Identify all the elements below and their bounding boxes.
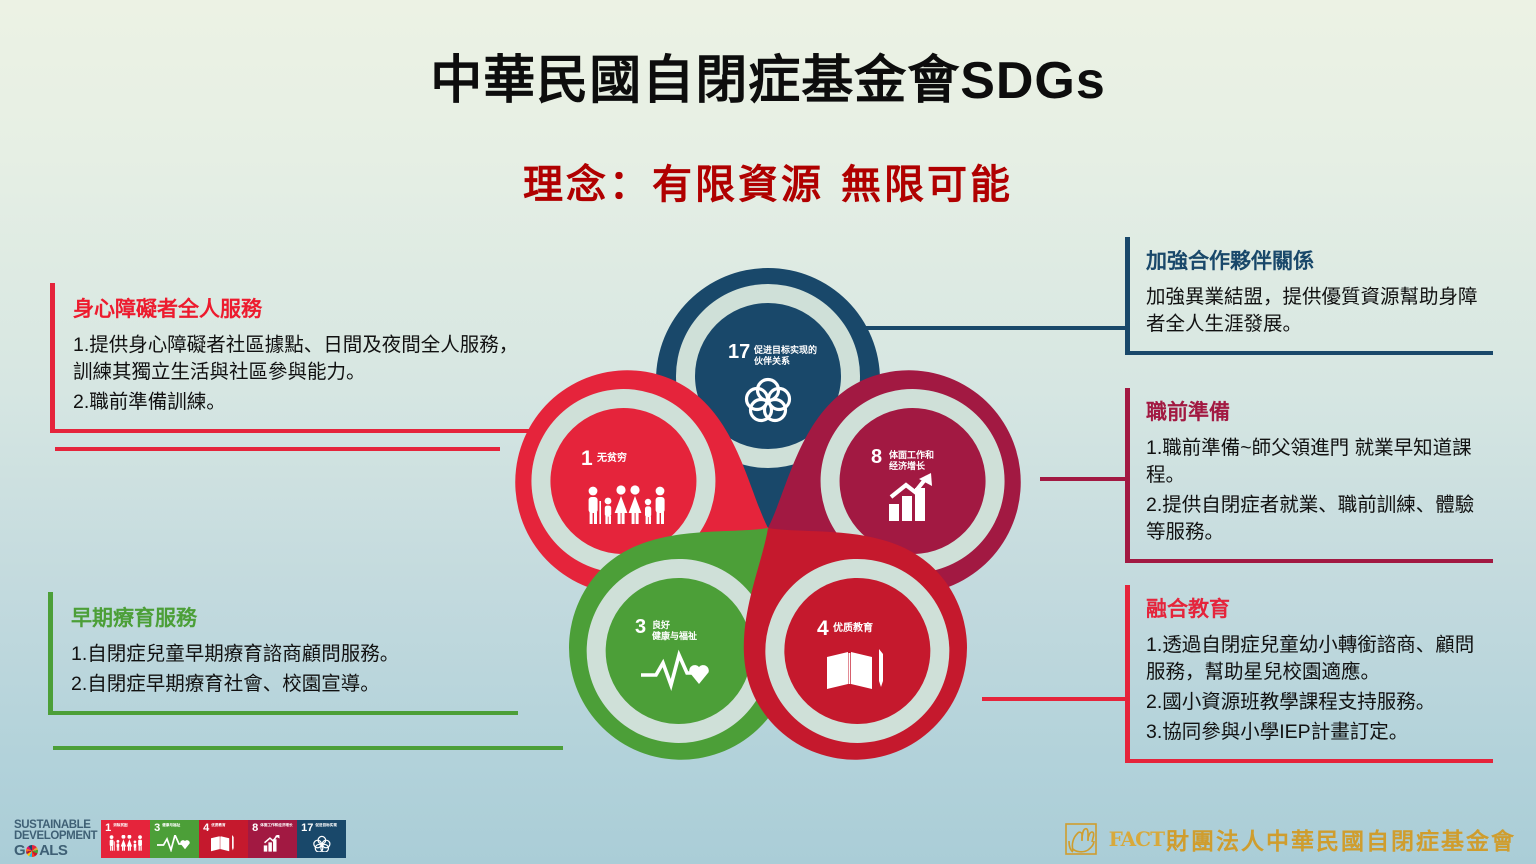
sdg-tile-3-text: 健康与福祉 xyxy=(162,823,196,827)
heartbeat-icon xyxy=(150,835,199,857)
sdg-tile-8[interactable]: 8 体面工作和经济增长 xyxy=(248,820,297,858)
sdg-tile-3[interactable]: 3 健康与福祉 xyxy=(150,820,199,858)
family-group-icon xyxy=(101,835,150,857)
sdg-1-number: 1 xyxy=(581,447,593,470)
panel-early-line-2: 2.自閉症早期療育社會、校園宣導。 xyxy=(71,671,510,698)
sdg-17-label-line1: 促进目标实现的 xyxy=(753,344,817,355)
partnership-circles-icon xyxy=(297,835,346,857)
fact-hand-mark-icon xyxy=(1063,821,1107,857)
open-book-pencil-icon xyxy=(199,835,248,857)
sdg-3-label-line1: 良好 xyxy=(652,619,670,630)
panel-vocational-line-1: 1.職前準備~師父領進門 就業早知道課程。 xyxy=(1146,435,1483,489)
org-name: 財團法人中華民國自閉症基金會 xyxy=(1166,822,1516,856)
sdg-tile-4-number: 4 xyxy=(203,823,209,833)
panel-partner-line-1: 加強異業結盟，提供優質資源幫助身障者全人生涯發展。 xyxy=(1146,284,1483,338)
sdg-3-label-line2: 健康与福祉 xyxy=(652,630,697,641)
sdg-tile-4-text: 优质教育 xyxy=(211,823,245,827)
organization-logo: FACT 財團法人中華民國自閉症基金會 xyxy=(1063,818,1516,860)
sdg-color-wheel-icon xyxy=(26,845,38,857)
sdg-tile-3-number: 3 xyxy=(154,823,160,833)
sdg-tile-1-number: 1 xyxy=(105,823,111,833)
sdg-tile-1[interactable]: 1 消除贫困 xyxy=(101,820,150,858)
panel-partner-title: 加強合作夥伴關係 xyxy=(1146,249,1483,274)
sdg-1-label-line1: 无贫穷 xyxy=(596,451,627,464)
sdg-4-number: 4 xyxy=(817,617,829,640)
panel-disability-line-1: 1.提供身心障礙者社區據點、日間及夜間全人服務，訓練其獨立生活與社區參與能力。 xyxy=(73,332,532,386)
panel-inclusive-line-2: 2.國小資源班教學課程支持服務。 xyxy=(1146,689,1483,716)
sdg-wordmark-g: G xyxy=(14,843,25,858)
sdg-wordmark: SUSTAINABLE DEVELOPMENT G ALS xyxy=(14,820,101,859)
panel-disability-title: 身心障礙者全人服務 xyxy=(73,297,532,322)
sdg-flower-diagram: 17 促进目标实现的 伙伴关系 1 无贫穷 xyxy=(448,228,1088,796)
panel-inclusive-education: 融合教育 1.透過自閉症兒童幼小轉銜諮商、顧問服務，幫助星兒校園適應。 2.國小… xyxy=(1125,585,1493,763)
sdg-tile-8-number: 8 xyxy=(252,823,258,833)
sdg-tile-17[interactable]: 17 促进目标实现 xyxy=(297,820,346,858)
panel-inclusive-line-1: 1.透過自閉症兒童幼小轉銜諮商、顧問服務，幫助星兒校園適應。 xyxy=(1146,632,1483,686)
sdg-tile-row: 1 消除贫困 3 健康与福祉 4 优质教育 8 体面工作和经济增长 xyxy=(101,820,346,858)
sdg-tile-1-text: 消除贫困 xyxy=(113,823,147,827)
sdg-wordmark-als: ALS xyxy=(39,843,67,858)
panel-inclusive-line-3: 3.協同參與小學IEP計畫訂定。 xyxy=(1146,719,1483,746)
org-abbreviation: FACT xyxy=(1109,827,1164,851)
sdg-logo-strip: SUSTAINABLE DEVELOPMENT G ALS 1 消除贫困 3 健… xyxy=(14,820,346,858)
panel-vocational-prep: 職前準備 1.職前準備~師父領進門 就業早知道課程。 2.提供自閉症者就業、職前… xyxy=(1125,388,1493,563)
sdg-17-number: 17 xyxy=(728,341,750,363)
sdg-8-label-line2: 经济增长 xyxy=(889,460,926,471)
sdg-tile-4[interactable]: 4 优质教育 xyxy=(199,820,248,858)
panel-partnership: 加強合作夥伴關係 加強異業結盟，提供優質資源幫助身障者全人生涯發展。 xyxy=(1125,237,1493,355)
panel-early-title: 早期療育服務 xyxy=(71,606,510,631)
page-title: 中華民國自閉症基金會SDGs xyxy=(0,38,1536,113)
sdg-8-number: 8 xyxy=(871,446,882,468)
sdg-3-number: 3 xyxy=(635,616,646,638)
sdg-4-label-line1: 优质教育 xyxy=(833,621,873,634)
panel-vocational-line-2: 2.提供自閉症者就業、職前訓練、體驗等服務。 xyxy=(1146,492,1483,546)
panel-early-intervention: 早期療育服務 1.自閉症兒童早期療育諮商顧問服務。 2.自閉症早期療育社會、校園… xyxy=(48,592,518,715)
connector-line-disability xyxy=(55,447,500,451)
panel-vocational-title: 職前準備 xyxy=(1146,400,1483,425)
growth-chart-icon xyxy=(248,835,297,857)
panel-disability-services: 身心障礙者全人服務 1.提供身心障礙者社區據點、日間及夜間全人服務，訓練其獨立生… xyxy=(50,283,540,433)
sdg-8-label-line1: 体面工作和 xyxy=(889,449,934,460)
page-subtitle: 理念：有限資源 無限可能 xyxy=(0,152,1536,210)
sdg-wordmark-line3: G ALS xyxy=(14,843,97,858)
panel-early-line-1: 1.自閉症兒童早期療育諮商顧問服務。 xyxy=(71,641,510,668)
sdg-tile-8-text: 体面工作和经济增长 xyxy=(260,823,294,827)
sdg-17-label-line2: 伙伴关系 xyxy=(754,355,790,366)
panel-disability-line-2: 2.職前準備訓練。 xyxy=(73,389,532,416)
sdg-tile-17-text: 促进目标实现 xyxy=(315,823,343,827)
panel-inclusive-title: 融合教育 xyxy=(1146,597,1483,622)
sdg-tile-17-number: 17 xyxy=(301,823,313,833)
